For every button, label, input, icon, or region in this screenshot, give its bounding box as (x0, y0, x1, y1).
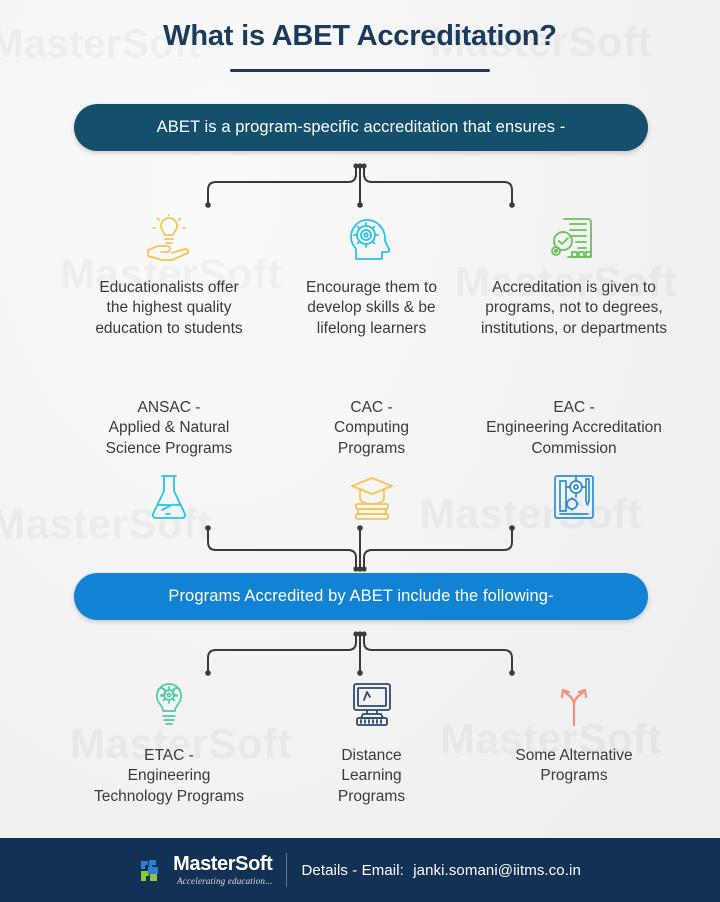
cell-caption: Encourage them to develop skills & be li… (306, 278, 437, 339)
connector-middle (190, 524, 530, 574)
cell-caption: Educationalists offer the highest qualit… (95, 278, 242, 339)
footer-bar: MasterSoft Accelerating education... Det… (0, 838, 720, 902)
banner-top-label: ABET is a program-specific accreditation… (157, 118, 566, 137)
mastersoft-logo-mark (139, 857, 167, 885)
footer-divider (286, 853, 287, 887)
flask-icon (141, 471, 197, 523)
footer-details-label: Details - Email: (301, 862, 403, 879)
cell-cac: CAC - Computing Programs (294, 398, 449, 523)
cell-caption: ETAC - Engineering Technology Programs (94, 746, 244, 807)
branching-arrows-icon (546, 678, 602, 730)
cell-caption: Accreditation is given to programs, not … (481, 278, 667, 339)
row-commissions: ANSAC - Applied & Natural Science Progra… (0, 398, 720, 523)
brain-bulb-gear-icon (141, 678, 197, 730)
infographic-page: MasterSoft MasterSoft MasterSoft MasterS… (0, 0, 720, 902)
cell-caption: Distance Learning Programs (338, 746, 405, 807)
banner-middle-label: Programs Accredited by ABET include the … (168, 587, 553, 606)
cell-alternative-programs: Some Alternative Programs (449, 678, 699, 807)
hand-lightbulb-icon (141, 212, 197, 264)
cell-caption: Some Alternative Programs (515, 746, 632, 787)
footer-contact: Details - Email: janki.somani@iitms.co.i… (301, 862, 580, 879)
certificate-check-icon (546, 212, 602, 264)
cell-educationalists: Educationalists offer the highest qualit… (44, 212, 294, 339)
cell-caption: EAC - Engineering Accreditation Commissi… (486, 398, 662, 459)
cell-ansac: ANSAC - Applied & Natural Science Progra… (44, 398, 294, 523)
connector-bottom (190, 628, 530, 680)
cell-distance-learning: Distance Learning Programs (294, 678, 449, 807)
row-programs: ETAC - Engineering Technology Programs D… (0, 678, 720, 807)
desktop-computer-icon (344, 678, 400, 730)
head-gear-icon (344, 212, 400, 264)
row-outcomes: Educationalists offer the highest qualit… (0, 212, 720, 339)
graduation-books-icon (344, 471, 400, 523)
cell-accreditation-scope: Accreditation is given to programs, not … (449, 212, 699, 339)
cell-caption: ANSAC - Applied & Natural Science Progra… (106, 398, 233, 459)
cell-encourage: Encourage them to develop skills & be li… (294, 212, 449, 339)
footer-email[interactable]: janki.somani@iitms.co.in (413, 862, 581, 879)
title-underline (230, 69, 490, 72)
banner-middle: Programs Accredited by ABET include the … (74, 573, 648, 620)
cell-eac: EAC - Engineering Accreditation Commissi… (449, 398, 699, 523)
logo-name: MasterSoft (173, 854, 272, 874)
page-title: What is ABET Accreditation? (0, 20, 720, 53)
cell-etac: ETAC - Engineering Technology Programs (44, 678, 294, 807)
logo-tagline: Accelerating education... (173, 877, 272, 886)
engineering-blueprint-icon (546, 471, 602, 523)
mastersoft-logo: MasterSoft Accelerating education... (139, 854, 272, 886)
cell-caption: CAC - Computing Programs (334, 398, 409, 459)
banner-top: ABET is a program-specific accreditation… (74, 104, 648, 151)
connector-top (190, 160, 530, 212)
